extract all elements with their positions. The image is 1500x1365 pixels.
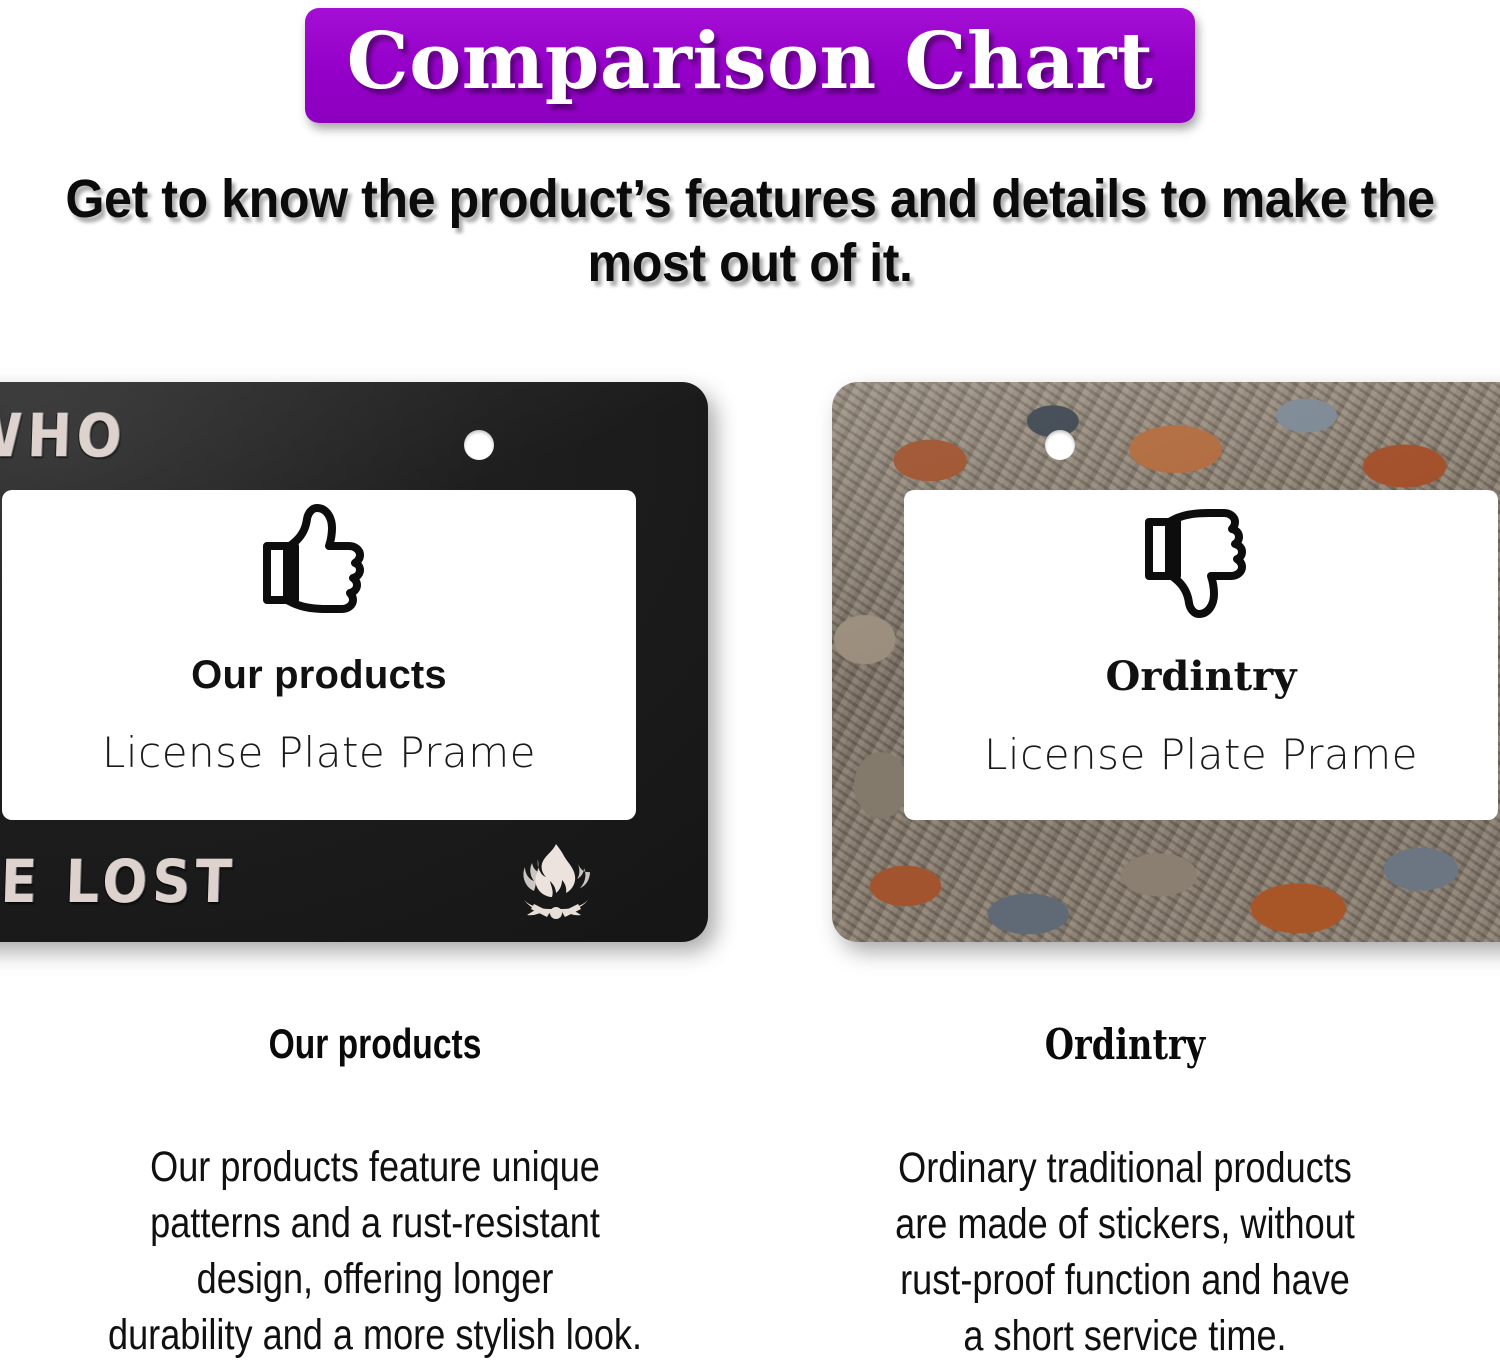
- thumbs-up-icon: [259, 502, 379, 625]
- right-column: Ordintry Ordinary traditional products a…: [750, 1020, 1500, 1364]
- left-window-subtitle: License Plate Prame: [102, 728, 536, 777]
- right-window-title: Ordintry: [1106, 653, 1297, 700]
- comparison-text-row: Our products Our products feature unique…: [0, 1020, 1500, 1364]
- right-window-subtitle: License Plate Prame: [984, 730, 1418, 779]
- right-column-heading: Ordintry: [852, 1020, 1398, 1069]
- left-window-content: Our products License Plate Prame: [0, 382, 708, 942]
- right-column-body: Ordinary traditional products are made o…: [839, 1141, 1412, 1365]
- left-window-title: Our products: [191, 653, 447, 698]
- left-column-heading: Our products: [102, 1020, 648, 1068]
- left-product-frame: OT ALL WHO NDER ARE LOST: [0, 382, 708, 942]
- left-column-body: Our products feature unique patterns and…: [89, 1140, 662, 1364]
- thumbs-down-icon: [1141, 502, 1261, 625]
- right-window-content: Ordintry License Plate Prame: [832, 382, 1500, 942]
- right-product-frame: Ordintry License Plate Prame: [832, 382, 1500, 942]
- left-column: Our products Our products feature unique…: [0, 1020, 750, 1364]
